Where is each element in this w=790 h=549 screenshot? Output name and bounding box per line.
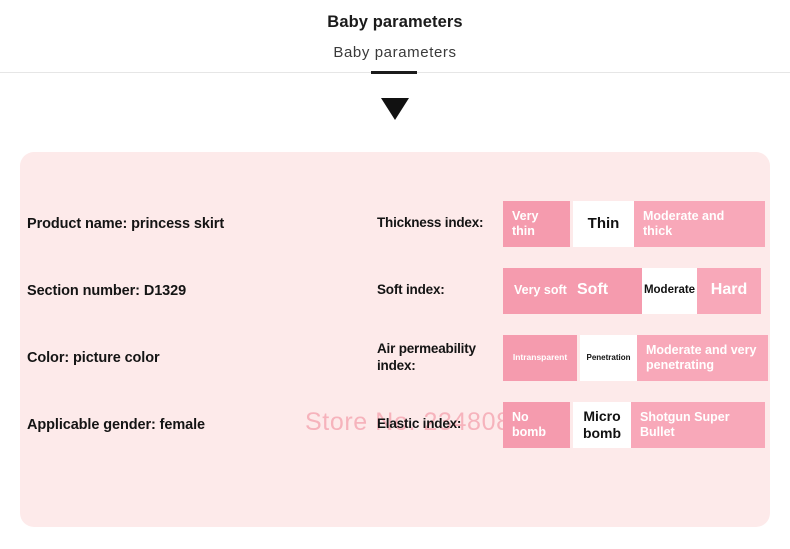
thickness-index-scale: Very thin Thin Moderate and thick <box>503 201 765 247</box>
air-option-moderate-and-very-penetrating[interactable]: Moderate and very penetrating <box>637 335 768 381</box>
elastic-index-label: Elastic index: <box>377 416 503 433</box>
soft-index-row: Soft index: Very soft Soft Moderate Hard <box>377 257 767 324</box>
elastic-option-shotgun-super-bullet[interactable]: Shotgun Super Bullet <box>631 402 765 448</box>
elastic-index-scale: No bomb Micro bomb Shotgun Super Bullet <box>503 402 765 448</box>
list-item: Color: picture color <box>27 324 357 391</box>
thickness-option-moderate-and-thick[interactable]: Moderate and thick <box>634 201 765 247</box>
air-permeability-index-scale: Intransparent Penetration Moderate and v… <box>503 335 768 381</box>
color-text: Color: picture color <box>27 350 160 366</box>
applicable-gender-text: Applicable gender: female <box>27 417 205 433</box>
thickness-option-very-thin[interactable]: Very thin <box>503 201 570 247</box>
soft-option-moderate[interactable]: Moderate <box>642 268 697 314</box>
soft-option-hard[interactable]: Hard <box>697 268 761 314</box>
section-number-text: Section number: D1329 <box>27 283 186 299</box>
list-item: Section number: D1329 <box>27 257 357 324</box>
elastic-option-micro-bomb[interactable]: Micro bomb <box>573 402 631 448</box>
air-permeability-index-label: Air permeability index: <box>377 341 503 375</box>
product-name-text: Product name: princess skirt <box>27 216 224 232</box>
elastic-index-row: Elastic index: No bomb Micro bomb Shotgu… <box>377 391 767 458</box>
page-title: Baby parameters <box>0 13 790 32</box>
elastic-option-no-bomb[interactable]: No bomb <box>503 402 570 448</box>
soft-index-scale: Very soft Soft Moderate Hard <box>503 268 761 314</box>
tab-baby-parameters[interactable]: Baby parameters <box>0 44 790 61</box>
list-item: Applicable gender: female <box>27 391 357 458</box>
air-option-penetration[interactable]: Penetration <box>580 335 637 381</box>
index-column: Thickness index: Very thin Thin Moderate… <box>377 190 767 458</box>
air-permeability-index-row: Air permeability index: Intransparent Pe… <box>377 324 767 391</box>
soft-index-label: Soft index: <box>377 282 503 299</box>
soft-option-group: Very soft Soft <box>503 268 642 314</box>
list-item: Product name: princess skirt <box>27 190 357 257</box>
soft-option-soft[interactable]: Soft <box>577 281 642 299</box>
thickness-index-row: Thickness index: Very thin Thin Moderate… <box>377 190 767 257</box>
air-option-intransparent[interactable]: Intransparent <box>503 335 577 381</box>
page-header: Baby parameters Baby parameters <box>0 0 790 73</box>
thickness-option-thin[interactable]: Thin <box>573 201 634 247</box>
tab-active-underline <box>371 71 417 74</box>
chevron-down-icon[interactable] <box>0 96 790 127</box>
product-info-column: Product name: princess skirt Section num… <box>27 190 357 458</box>
thickness-index-label: Thickness index: <box>377 215 503 232</box>
soft-option-very-soft[interactable]: Very soft <box>503 283 577 297</box>
